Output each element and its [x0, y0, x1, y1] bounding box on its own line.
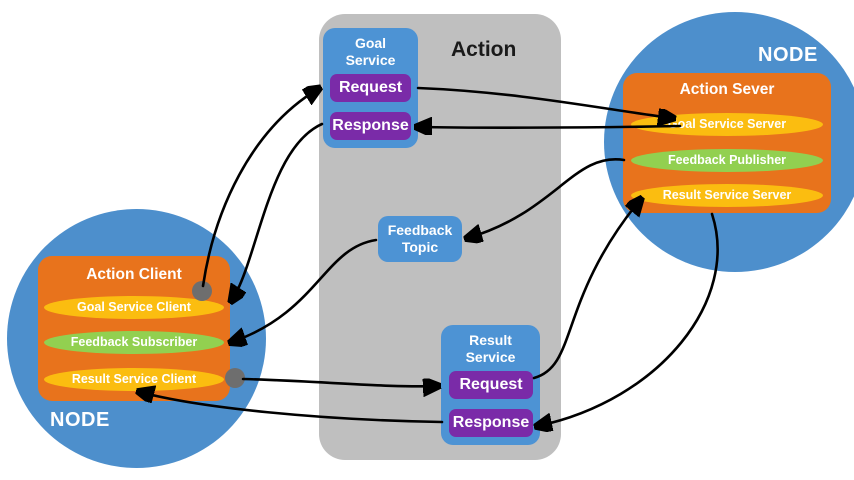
goal-service-client-connector-dot	[192, 281, 212, 301]
feedback-topic-box[interactable]: Feedback Topic	[378, 216, 462, 262]
client-node-label: NODE	[50, 409, 110, 432]
server-interface-goal-service-server[interactable]: Goal Service Server	[631, 113, 823, 136]
client-interface-result-service-client[interactable]: Result Service Client	[44, 368, 224, 391]
goal-service-title-line1: Goal	[355, 35, 386, 51]
feedback-topic-title-line2: Topic	[402, 239, 438, 256]
diagram-canvas: NODE Action Sever Goal Service Server Fe…	[0, 0, 854, 480]
result-service-title-line1: Result	[469, 332, 512, 348]
result-service-title: Result Service	[441, 332, 540, 365]
goal-service-title-line2: Service	[346, 52, 396, 68]
result-service-title-line2: Service	[466, 349, 516, 365]
result-service-box: Result Service Request Response	[441, 325, 540, 445]
server-node-label: NODE	[758, 44, 818, 67]
action-container-title: Action	[451, 38, 516, 62]
result-service-response-box[interactable]: Response	[449, 409, 533, 437]
feedback-topic-title-line1: Feedback	[388, 222, 453, 239]
result-service-request-box[interactable]: Request	[449, 371, 533, 399]
server-interface-result-service-server[interactable]: Result Service Server	[631, 184, 823, 207]
server-interface-feedback-publisher[interactable]: Feedback Publisher	[631, 149, 823, 172]
result-service-client-connector-dot	[225, 368, 245, 388]
client-interface-feedback-subscriber[interactable]: Feedback Subscriber	[44, 331, 224, 354]
action-server-title: Action Sever	[623, 80, 831, 100]
goal-service-box: Goal Service Request Response	[323, 28, 418, 148]
goal-service-request-box[interactable]: Request	[330, 74, 411, 102]
goal-service-title: Goal Service	[323, 35, 418, 68]
goal-service-response-box[interactable]: Response	[330, 112, 411, 140]
